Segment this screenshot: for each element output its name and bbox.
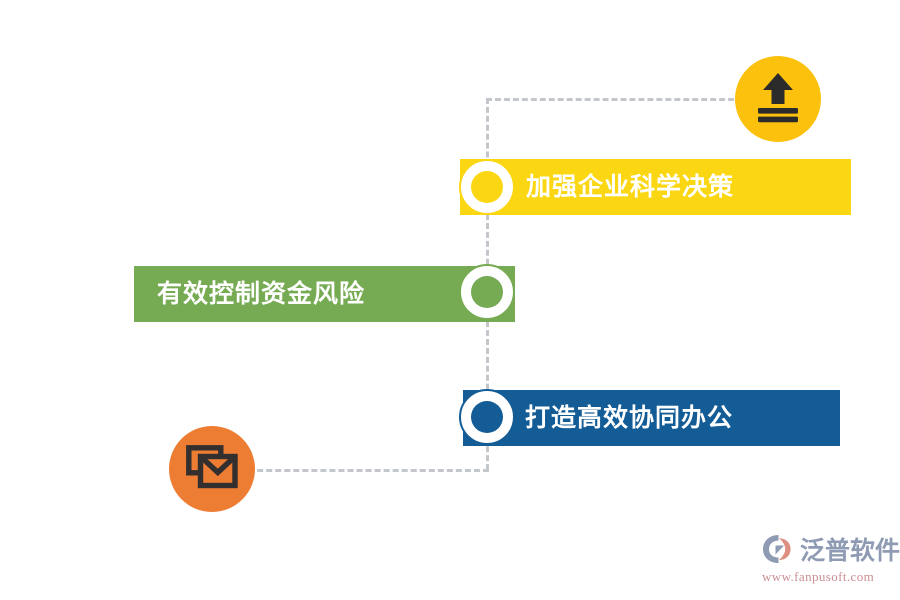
item-label-decision: 加强企业科学决策: [526, 175, 734, 200]
node-dot-risk: [471, 276, 503, 308]
infographic-canvas: 加强企业科学决策 有效控制资金风险 打造高效协同办公: [0, 0, 900, 600]
item-bar-risk[interactable]: 有效控制资金风险: [134, 266, 515, 322]
watermark: 泛普软件 www.fanpusoft.com: [762, 534, 894, 590]
upload-icon-badge[interactable]: [735, 56, 821, 142]
connector-line-top: [486, 98, 761, 101]
item-bar-collaboration[interactable]: 打造高效协同办公: [463, 390, 840, 446]
fanpu-leaf-logo-icon: [762, 534, 796, 569]
item-bar-decision[interactable]: 加强企业科学决策: [460, 159, 851, 215]
item-label-collaboration: 打造高效协同办公: [525, 406, 733, 431]
upload-arrow-icon: [755, 71, 801, 128]
node-marker-risk[interactable]: [459, 264, 515, 320]
node-dot-collaboration: [471, 401, 503, 433]
watermark-url: www.fanpusoft.com: [762, 569, 894, 585]
item-label-risk: 有效控制资金风险: [157, 282, 365, 307]
node-dot-decision: [471, 171, 503, 203]
stacked-envelope-icon: [186, 445, 238, 494]
watermark-brand-name: 泛普软件: [800, 539, 900, 564]
mail-icon-badge[interactable]: [169, 426, 255, 512]
node-marker-collaboration[interactable]: [459, 389, 515, 445]
node-marker-decision[interactable]: [459, 159, 515, 215]
